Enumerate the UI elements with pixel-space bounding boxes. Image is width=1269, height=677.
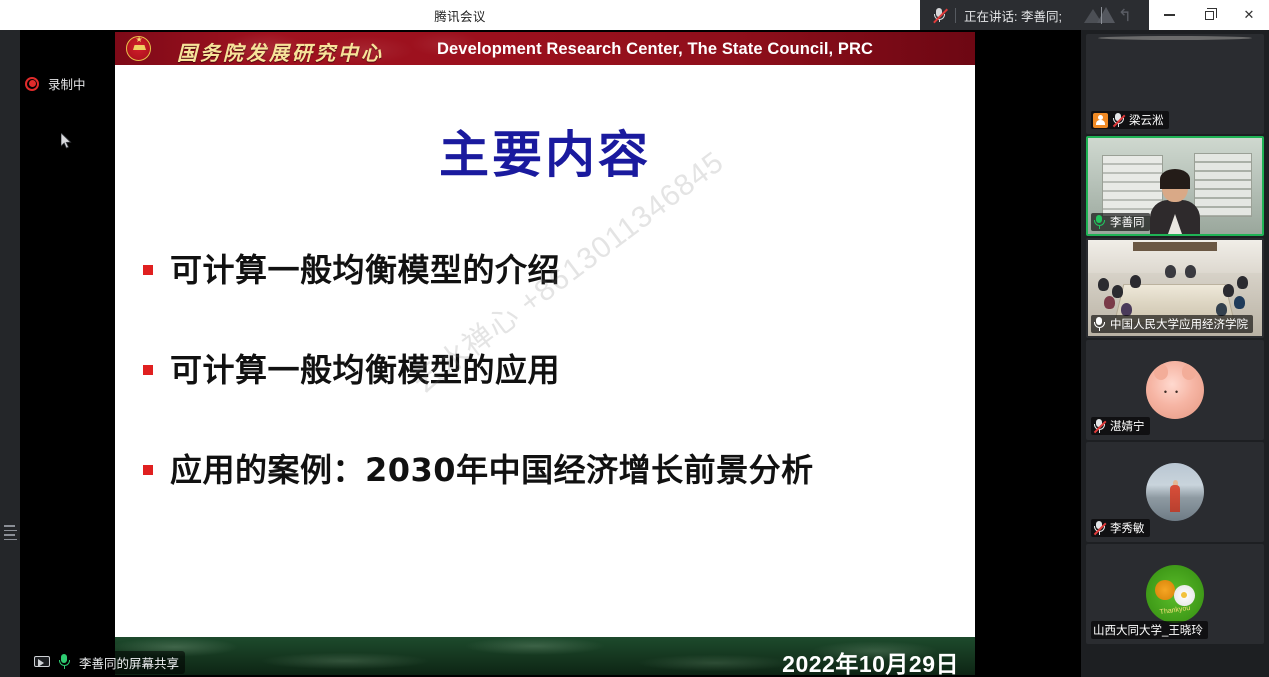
participant-tile[interactable]: 中国人民大学应用经济学院	[1086, 238, 1264, 338]
slide-bullet-3: 应用的案例：2030年中国经济增长前景分析	[143, 445, 814, 491]
participant-tile[interactable]: •• 湛婧宁	[1086, 340, 1264, 440]
recording-dot-icon	[25, 77, 39, 91]
title-bar-status-area: 正在讲话: 李善同; ↰	[920, 0, 1149, 30]
participant-name: 梁云淞	[1129, 112, 1164, 128]
slide-bullet-1: 可计算一般均衡模型的介绍	[143, 245, 560, 291]
bullet-square-icon	[143, 465, 153, 475]
mouse-cursor-icon	[61, 133, 72, 149]
participant-label: 梁云淞	[1091, 111, 1169, 129]
app-title: 腾讯会议	[0, 0, 920, 30]
bullet-text: 应用的案例：2030年中国经济增长前景分析	[170, 445, 814, 491]
participant-avatar: Thankyou	[1146, 565, 1204, 623]
participant-name: 湛婧宁	[1110, 418, 1145, 434]
slide-title: 主要内容	[115, 115, 975, 187]
participant-figure	[1149, 172, 1201, 234]
slide-bullet-2: 可计算一般均衡模型的应用	[143, 345, 560, 391]
back-arrow-icon[interactable]: ↰	[1118, 7, 1132, 24]
bullet-square-icon	[143, 265, 153, 275]
participant-label: 李秀敏	[1091, 519, 1150, 537]
screen-share-icon	[34, 656, 50, 669]
slide-date: 2022年10月29日	[782, 645, 959, 675]
gallery-view-icon[interactable]	[1084, 5, 1118, 25]
bullet-square-icon	[143, 365, 153, 375]
mic-icon	[1093, 317, 1106, 332]
host-badge-icon	[1093, 113, 1108, 128]
slide-banner: 国务院发展研究中心 Development Research Center, T…	[115, 32, 975, 65]
mic-muted-icon[interactable]	[932, 7, 947, 24]
mic-muted-icon	[1093, 521, 1106, 536]
mic-on-icon	[1093, 215, 1106, 230]
shared-screen-stage: 录制中 国务院发展研究中心 Development Research Cente…	[20, 30, 1081, 677]
bullet-text: 可计算一般均衡模型的应用	[170, 345, 560, 391]
presentation-slide: 国务院发展研究中心 Development Research Center, T…	[115, 32, 975, 675]
national-emblem-icon	[126, 36, 151, 61]
list-menu-icon[interactable]	[4, 525, 17, 540]
participant-tile[interactable]: 梁云淞	[1086, 34, 1264, 134]
organization-name-cn: 国务院发展研究中心	[177, 37, 384, 65]
participant-name: 山西大同大学_王晓玲	[1093, 622, 1203, 638]
participant-tile[interactable]: Thankyou 山西大同大学_王晓玲	[1086, 544, 1264, 644]
bullet-text: 可计算一般均衡模型的介绍	[170, 245, 560, 291]
recording-indicator[interactable]: 录制中	[25, 74, 86, 93]
mic-on-icon	[58, 654, 71, 670]
mic-muted-icon	[1093, 419, 1106, 434]
speaking-now-label: 正在讲话: 李善同;	[964, 6, 1062, 25]
mic-muted-icon	[1112, 113, 1125, 128]
participant-name: 中国人民大学应用经济学院	[1110, 316, 1248, 332]
participant-label: 中国人民大学应用经济学院	[1091, 315, 1253, 333]
participant-tile[interactable]: 李善同	[1086, 136, 1264, 236]
title-bar-left: 腾讯会议	[0, 0, 920, 30]
participant-name: 李秀敏	[1110, 520, 1145, 536]
maximize-button[interactable]	[1189, 0, 1229, 30]
minimize-button[interactable]	[1149, 0, 1189, 30]
participant-label: 山西大同大学_王晓玲	[1091, 621, 1208, 639]
organization-name-en: Development Research Center, The State C…	[437, 40, 873, 59]
participant-avatar	[1146, 463, 1204, 521]
left-rail	[0, 30, 20, 677]
window-controls: ✕	[1149, 0, 1269, 30]
title-bar-icon-group: ↰	[1084, 5, 1132, 25]
divider	[955, 8, 956, 23]
participant-tile[interactable]: 李秀敏	[1086, 442, 1264, 542]
close-button[interactable]: ✕	[1229, 0, 1269, 30]
recording-label: 录制中	[48, 74, 86, 93]
participant-panel[interactable]: 梁云淞 李善同 中国人民大学应用经济学院 ••	[1081, 30, 1269, 677]
participant-label: 李善同	[1091, 213, 1150, 231]
participant-label: 湛婧宁	[1091, 417, 1150, 435]
participant-name: 李善同	[1110, 214, 1145, 230]
participant-avatar: ••	[1146, 361, 1204, 419]
window-title-bar: 腾讯会议 正在讲话: 李善同; ↰ ✕	[0, 0, 1269, 30]
slide-footer: 2022年10月29日	[115, 637, 975, 675]
